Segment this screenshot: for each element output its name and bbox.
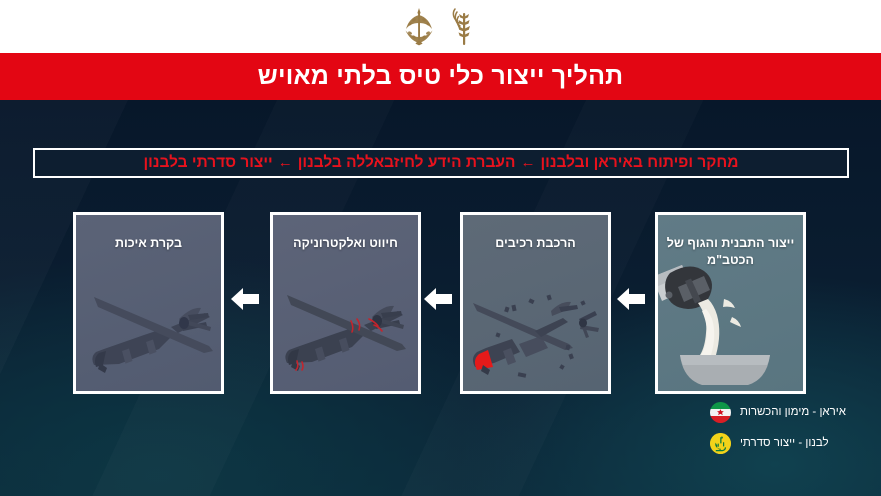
legend-item-iran: איראן - מימון והכשרות <box>710 402 846 423</box>
stage-label-wiring-electronics: חיווט ואלקטרוניקה <box>287 235 404 252</box>
stage-panel-quality-control[interactable]: בקרת איכות <box>73 212 224 394</box>
stage-panels-row: בקרת איכות <box>0 212 881 394</box>
idf-sword-olive-branch-emblem-icon <box>401 7 437 47</box>
signal-antenna-emblem-icon <box>447 7 481 47</box>
flow-segment-1: מחקר ופיתוח באיראן ובלבנון <box>540 154 738 171</box>
flow-banner-text: מחקר ופיתוח באיראן ובלבנון←העברת הידע לח… <box>143 155 738 171</box>
stage-panel-wiring-electronics[interactable]: חיווט ואלקטרוניקה <box>270 212 421 394</box>
logo-strip <box>0 0 881 53</box>
flow-banner-inner: מחקר ופיתוח באיראן ובלבנון←העברת הידע לח… <box>35 150 847 176</box>
flow-arrow-left-1 <box>228 282 262 316</box>
page-title: תהליך ייצור כלי טיס בלתי מאויש <box>258 64 624 89</box>
flow-segment-2: העברת הידע לחיזבאללה בלבנון <box>298 154 516 171</box>
stage-panel-component-assembly[interactable]: הרכבת רכיבים <box>460 212 611 394</box>
stage-label-mold-body-production: ייצור התבנית והגוף של הכטב"מ <box>658 235 803 269</box>
flow-banner: מחקר ופיתוח באיראן ובלבנון←העברת הידע לח… <box>33 148 849 178</box>
stage-panel-inner: הרכבת רכיבים <box>463 215 608 391</box>
flow-arrow-left-2 <box>421 282 455 316</box>
iran-flag-badge-icon <box>710 402 731 423</box>
stage-panel-inner: בקרת איכות <box>76 215 221 391</box>
hezbollah-emblem-badge-icon <box>710 433 731 454</box>
stage-panel-inner: ייצור התבנית והגוף של הכטב"מ <box>658 215 803 391</box>
legend-label-iran: איראן - מימון והכשרות <box>740 407 846 419</box>
title-bar: תהליך ייצור כלי טיס בלתי מאויש <box>0 53 881 100</box>
legend-item-lebanon: לבנון - ייצור סדרתי <box>710 433 829 454</box>
stage-panel-mold-body-production[interactable]: ייצור התבנית והגוף של הכטב"מ <box>655 212 806 394</box>
stage-panel-inner: חיווט ואלקטרוניקה <box>273 215 418 391</box>
stage-label-component-assembly: הרכבת רכיבים <box>489 235 581 252</box>
infographic-canvas: מחקר ופיתוח באיראן ובלבנון←העברת הידע לח… <box>0 100 881 496</box>
stage-label-quality-control: בקרת איכות <box>109 235 188 252</box>
flow-arrow-glyph-2: ← <box>273 155 298 170</box>
legend: איראן - מימון והכשרות לבנון - ייצור סדרת… <box>710 402 846 454</box>
legend-label-lebanon: לבנון - ייצור סדרתי <box>740 438 829 450</box>
flow-segment-3: ייצור סדרתי בלבנון <box>143 154 272 171</box>
flow-arrow-glyph-1: ← <box>515 155 540 170</box>
flow-arrow-left-3 <box>614 282 648 316</box>
iran-emblem-mark <box>716 409 724 416</box>
